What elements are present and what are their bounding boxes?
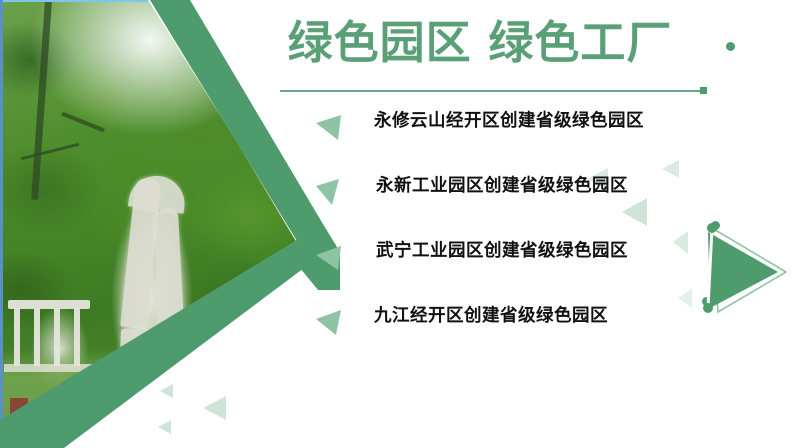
triangle-left-icon (314, 112, 344, 142)
dot-icon (726, 42, 735, 51)
bullet-list: 永修云山经开区创建省级绿色园区 永新工业园区创建省级绿色园区 武宁工业园区创建省… (300, 104, 730, 364)
list-item-label: 永修云山经开区创建省级绿色园区 (374, 107, 724, 132)
triangle-left-icon (156, 418, 174, 436)
title-underline-dot (700, 87, 707, 94)
list-item[interactable]: 永新工业园区创建省级绿色园区 (300, 169, 730, 234)
list-item[interactable]: 武宁工业园区创建省级绿色园区 (300, 234, 730, 299)
title-underline (280, 90, 705, 92)
slide-canvas: 绿色园区 绿色工厂 永修 (0, 0, 800, 448)
list-item-label: 永新工业园区创建省级绿色园区 (376, 172, 726, 197)
triangle-left-icon (314, 242, 344, 272)
list-item[interactable]: 永修云山经开区创建省级绿色园区 (300, 104, 730, 169)
list-item-label: 武宁工业园区创建省级绿色园区 (376, 237, 726, 262)
triangle-left-icon (314, 177, 344, 207)
list-item-label: 九江经开区创建省级绿色园区 (374, 302, 724, 327)
page-title: 绿色园区 绿色工厂 (250, 12, 710, 74)
list-item[interactable]: 九江经开区创建省级绿色园区 (300, 299, 730, 364)
triangle-left-icon (314, 307, 344, 337)
triangle-left-icon (158, 382, 176, 400)
triangle-left-icon (200, 393, 230, 423)
